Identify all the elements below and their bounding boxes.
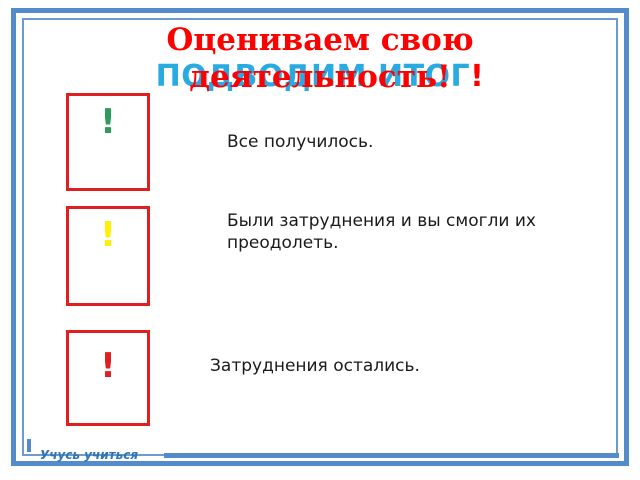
mark-box-green[interactable]: ! <box>66 93 150 191</box>
slide-canvas: ПОДВОДИМ ИТОГ! Оцениваем свою деятельнос… <box>0 0 640 480</box>
option-row-difficulties[interactable]: ! Затруднения остались. <box>0 330 640 426</box>
exclamation-yellow-icon: ! <box>100 218 116 252</box>
footer-divider <box>164 453 619 458</box>
option-label-overcame: Были затруднения и вы смогли их преодоле… <box>227 210 547 255</box>
mark-box-red[interactable]: ! <box>66 330 150 426</box>
footer-label: Учусь учиться <box>40 448 138 462</box>
footer-tick-mark <box>27 439 31 452</box>
option-row-success[interactable]: ! Все получилось. <box>0 93 640 191</box>
exclamation-green-icon: ! <box>100 105 116 139</box>
exclamation-red-icon: ! <box>100 349 116 383</box>
option-label-success: Все получилось. <box>227 131 557 153</box>
option-label-difficulties: Затруднения остались. <box>210 355 570 377</box>
slide-footer: Учусь учиться <box>0 448 640 470</box>
option-row-overcame[interactable]: ! Были затруднения и вы смогли их преодо… <box>0 206 640 306</box>
self-assessment-options: ! Все получилось. ! Были затруднения и в… <box>0 0 640 480</box>
mark-box-yellow[interactable]: ! <box>66 206 150 306</box>
